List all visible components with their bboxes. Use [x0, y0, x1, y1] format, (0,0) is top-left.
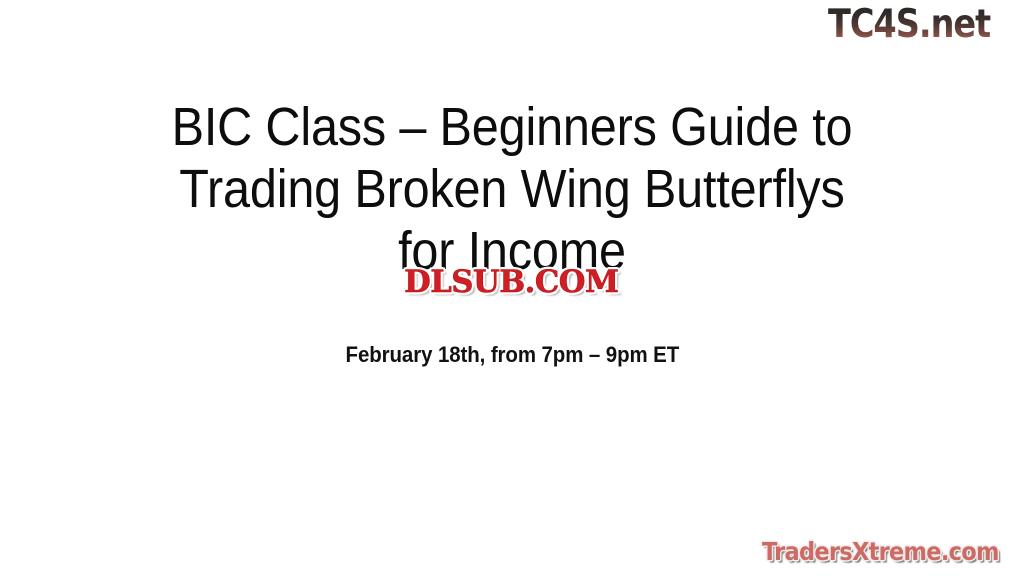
- dlsub-watermark-text: DLSUB.COM: [404, 265, 618, 299]
- slide-title: BIC Class – Beginners Guide to Trading B…: [60, 96, 964, 282]
- tradersxtreme-logo[interactable]: TradersXtreme.com: [762, 534, 1020, 570]
- tc4s-watermark-text: TC4S.net: [828, 5, 990, 45]
- title-line-2: Trading Broken Wing Butterflys: [105, 158, 919, 220]
- presentation-slide: TC4S.net BIC Class – Beginners Guide to …: [0, 0, 1024, 576]
- tc4s-watermark-logo: TC4S.net: [828, 2, 1024, 48]
- title-line-1: BIC Class – Beginners Guide to: [105, 96, 919, 158]
- subtitle-text: February 18th, from 7pm – 9pm ET: [345, 341, 679, 369]
- slide-subtitle: February 18th, from 7pm – 9pm ET: [60, 341, 964, 369]
- tradersxtreme-logo-text: TradersXtreme.com: [762, 538, 999, 566]
- dlsub-watermark-logo: DLSUB.COM: [369, 263, 653, 301]
